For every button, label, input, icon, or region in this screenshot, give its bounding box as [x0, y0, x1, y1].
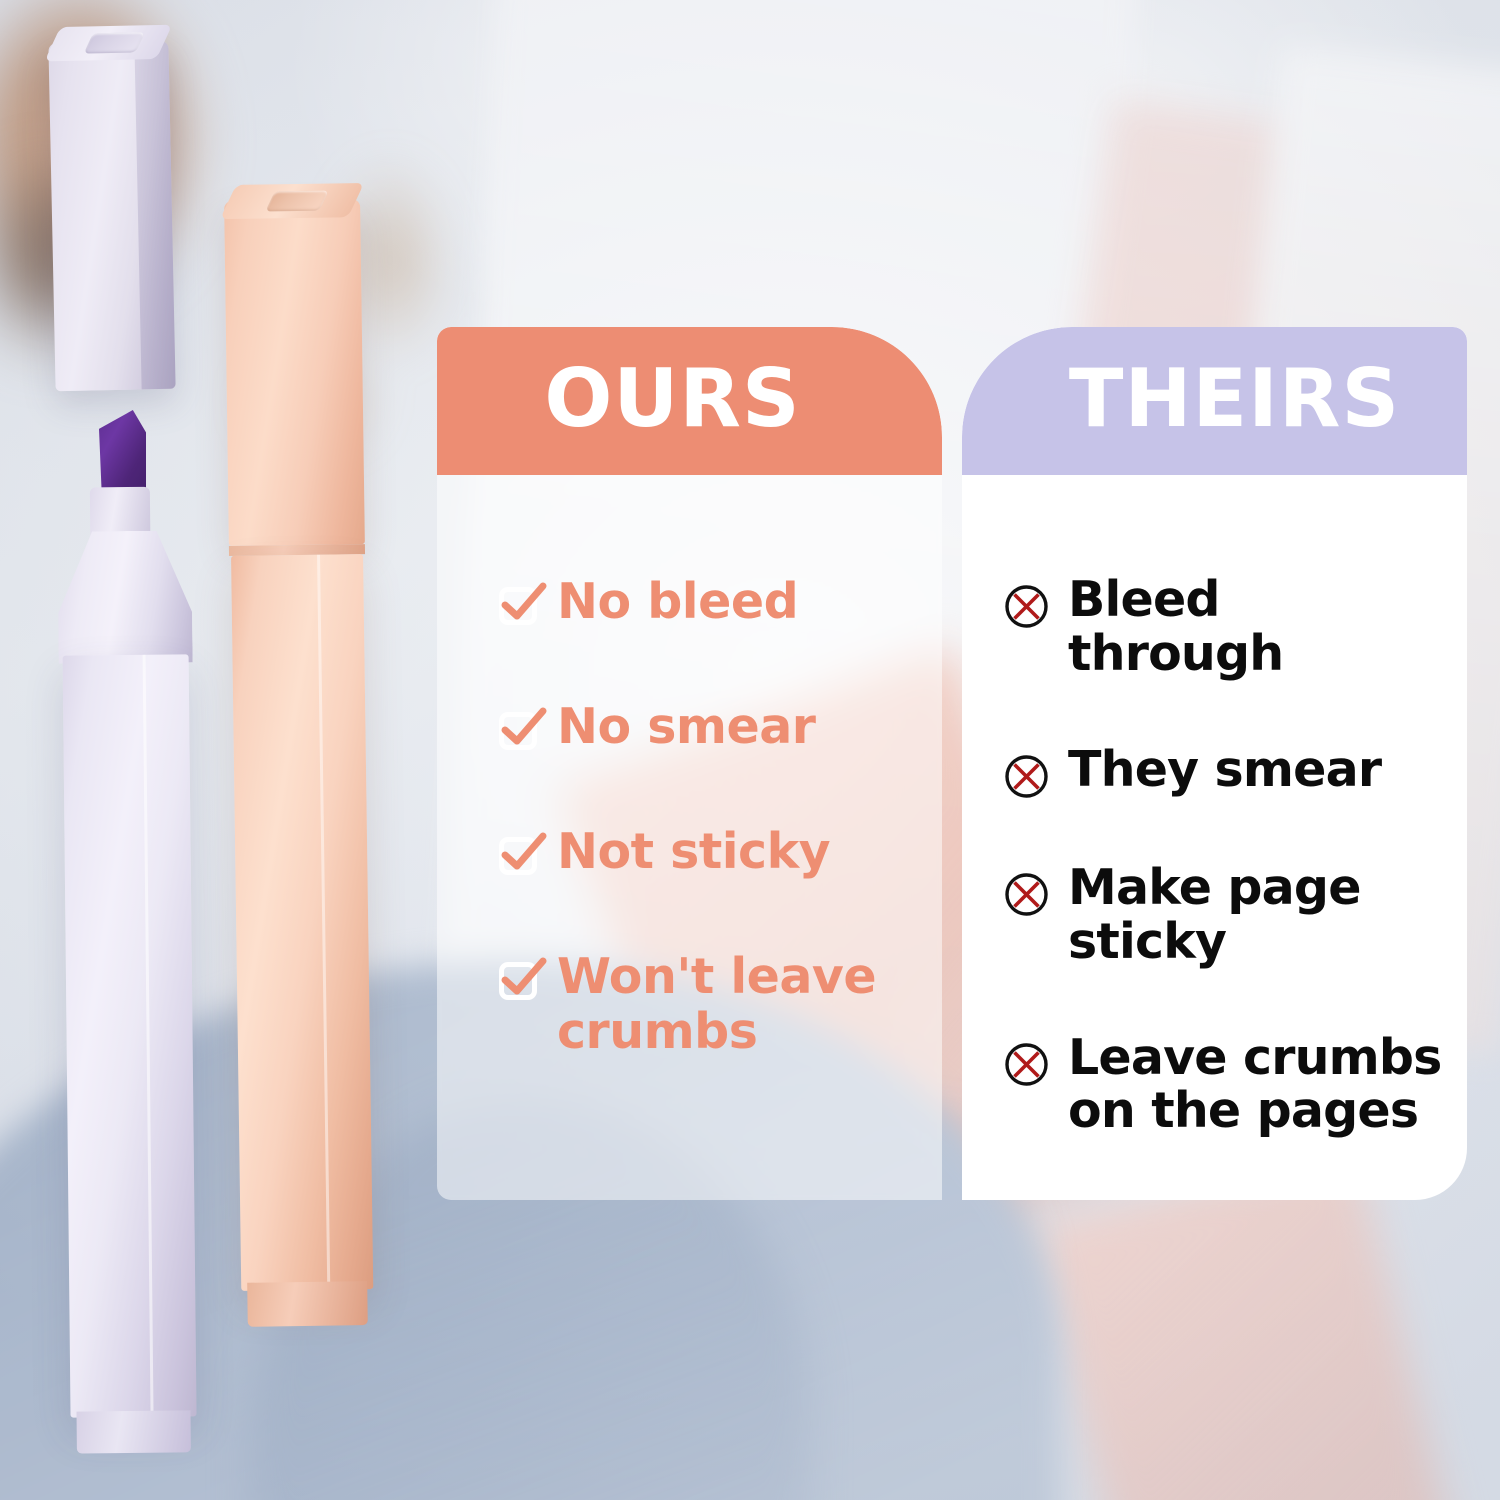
- list-item: Not sticky: [499, 825, 908, 880]
- list-item-label: No bleed: [557, 575, 798, 630]
- list-item-label: They smear: [1068, 743, 1381, 797]
- list-item-label: Bleed through: [1068, 573, 1449, 681]
- checkbox-check-icon: [499, 587, 537, 625]
- circle-x-icon: [1004, 754, 1049, 799]
- checkbox-check-icon: [499, 712, 537, 750]
- list-item-label: Leave crumbs on the pages: [1068, 1031, 1449, 1139]
- ours-comparison-card: OURS No bleed No smear: [437, 327, 942, 1200]
- theirs-card-header: THEIRS: [962, 327, 1467, 475]
- list-item: Won't leave crumbs: [499, 950, 908, 1060]
- ours-feature-list: No bleed No smear Not stic: [437, 475, 942, 1200]
- theirs-comparison-card: THEIRS Bleed through They smear: [962, 327, 1467, 1200]
- list-item-label: Not sticky: [557, 825, 830, 880]
- lavender-pen-barrel: [57, 486, 201, 1477]
- ours-title: OURS: [544, 359, 800, 443]
- theirs-title: THEIRS: [1069, 359, 1400, 443]
- checkbox-check-icon: [499, 962, 537, 1000]
- lavender-pen-cap: [48, 41, 175, 391]
- lavender-barrel-foot: [76, 1410, 190, 1453]
- list-item: Bleed through: [1004, 573, 1449, 681]
- list-item-label: Make page sticky: [1068, 861, 1449, 969]
- checkbox-tick: [501, 956, 547, 1002]
- list-item: Leave crumbs on the pages: [1004, 1031, 1449, 1139]
- list-item-label: Won't leave crumbs: [557, 950, 908, 1060]
- list-item: No smear: [499, 700, 908, 755]
- theirs-feature-list: Bleed through They smear Make page stick…: [962, 475, 1467, 1200]
- lavender-barrel-shoulder: [57, 530, 192, 663]
- checkbox-check-icon: [499, 837, 537, 875]
- ours-card-header: OURS: [437, 327, 942, 475]
- list-item-label: No smear: [557, 700, 815, 755]
- circle-x-icon: [1004, 1042, 1049, 1087]
- lavender-cap-side-face: [134, 41, 175, 390]
- purple-chisel-nib: [99, 410, 146, 496]
- checkbox-tick: [501, 831, 547, 877]
- peach-pen-foot: [247, 1281, 368, 1327]
- product-comparison-infographic: OURS No bleed No smear: [0, 0, 1500, 1500]
- checkbox-tick: [501, 581, 547, 627]
- peach-cap-logo-emboss: [265, 191, 328, 212]
- peach-pen: [224, 199, 376, 1336]
- checkbox-tick: [501, 706, 547, 752]
- list-item: No bleed: [499, 575, 908, 630]
- list-item: Make page sticky: [1004, 861, 1449, 969]
- lavender-barrel-body: [63, 654, 197, 1417]
- circle-x-icon: [1004, 584, 1049, 629]
- peach-pen-body: [231, 554, 373, 1291]
- circle-x-icon: [1004, 872, 1049, 917]
- list-item: They smear: [1004, 743, 1449, 799]
- peach-pen-cap: [224, 199, 365, 546]
